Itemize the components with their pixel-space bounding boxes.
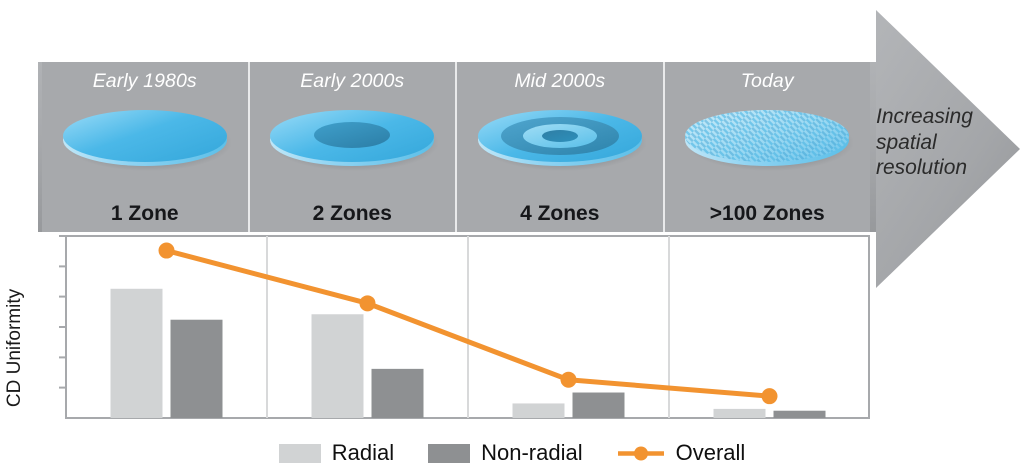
- wafer-100-zone-icon: [681, 98, 853, 174]
- wafer-4-zone-icon: [474, 98, 646, 174]
- epoch-era-label: Early 2000s: [300, 71, 404, 91]
- legend-line-overall-icon: [617, 444, 665, 463]
- arrow-label-line-2: spatial: [876, 130, 1006, 156]
- epoch-cell-mid-2000s[interactable]: Mid 2000s: [457, 62, 665, 232]
- legend-swatch-non-radial-icon: [428, 444, 470, 463]
- figure-root: Early 1980s: [0, 0, 1024, 475]
- epoch-cell-today[interactable]: Today: [665, 62, 871, 232]
- wafer-2-zone-icon: [266, 98, 438, 174]
- legend-item-overall[interactable]: Overall: [617, 440, 746, 466]
- legend-label: Non-radial: [481, 440, 583, 466]
- epoch-cell-early-2000s[interactable]: Early 2000s: [250, 62, 458, 232]
- cd-uniformity-chart: CD Uniformity: [42, 232, 870, 420]
- arrow-label-line-3: resolution: [876, 155, 1006, 181]
- epoch-era-label: Mid 2000s: [514, 71, 605, 91]
- legend-item-radial[interactable]: Radial: [279, 440, 394, 466]
- epoch-era-label: Today: [741, 71, 794, 91]
- epoch-cell-early-1980s[interactable]: Early 1980s: [42, 62, 250, 232]
- plot-area: [42, 232, 870, 420]
- epoch-era-label: Early 1980s: [93, 71, 197, 91]
- arrow-label-line-1: Increasing: [876, 104, 1006, 130]
- epoch-zone-count: 2 Zones: [250, 202, 456, 226]
- legend-item-non-radial[interactable]: Non-radial: [428, 440, 583, 466]
- legend-label: Overall: [676, 440, 746, 466]
- legend-label: Radial: [332, 440, 394, 466]
- epoch-zone-count: 1 Zone: [42, 202, 248, 226]
- epoch-zone-count: 4 Zones: [457, 202, 663, 226]
- y-axis-title: CD Uniformity: [4, 268, 24, 428]
- legend-swatch-radial-icon: [279, 444, 321, 463]
- chart-legend: Radial Non-radial Overall: [0, 440, 1024, 466]
- epoch-zone-count: >100 Zones: [665, 202, 871, 226]
- arrow-label: Increasing spatial resolution: [876, 104, 1006, 181]
- epoch-header-strip: Early 1980s: [42, 62, 870, 232]
- wafer-1-zone-icon: [59, 98, 231, 174]
